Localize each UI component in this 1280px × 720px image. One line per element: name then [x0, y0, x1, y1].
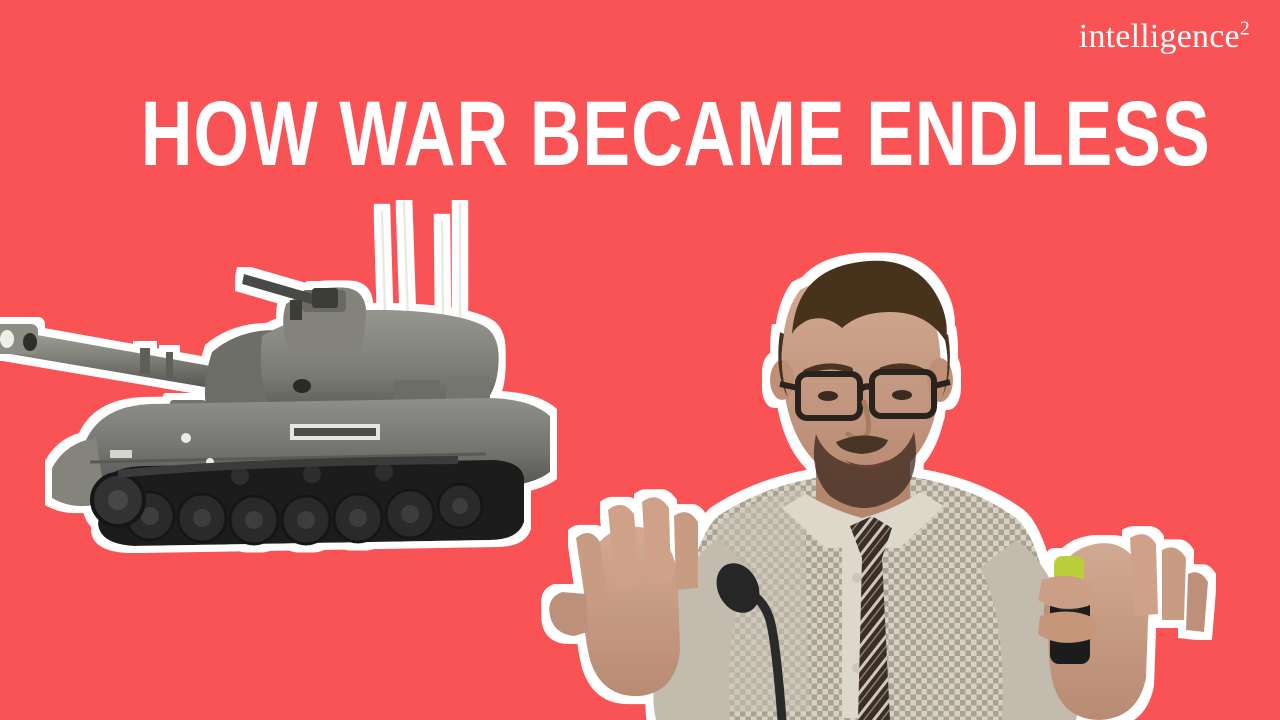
tank-main-gun	[0, 324, 222, 390]
speaker-right-arm	[980, 534, 1208, 720]
page-title: HOW WAR BECAME ENDLESS	[141, 92, 1139, 177]
presentation-clicker	[1050, 556, 1090, 664]
brand-logo-superscript: 2	[1240, 18, 1250, 40]
speaker-left-hand	[549, 497, 698, 696]
video-thumbnail: HOW WAR BECAME ENDLESS intelligence2	[0, 0, 1280, 720]
brand-logo: intelligence2	[1079, 20, 1250, 54]
brand-logo-name: intelligence	[1079, 18, 1240, 55]
tank-cutout	[0, 200, 610, 560]
speaker-cutout	[520, 238, 1240, 720]
speaker-right-hand	[1038, 534, 1208, 720]
